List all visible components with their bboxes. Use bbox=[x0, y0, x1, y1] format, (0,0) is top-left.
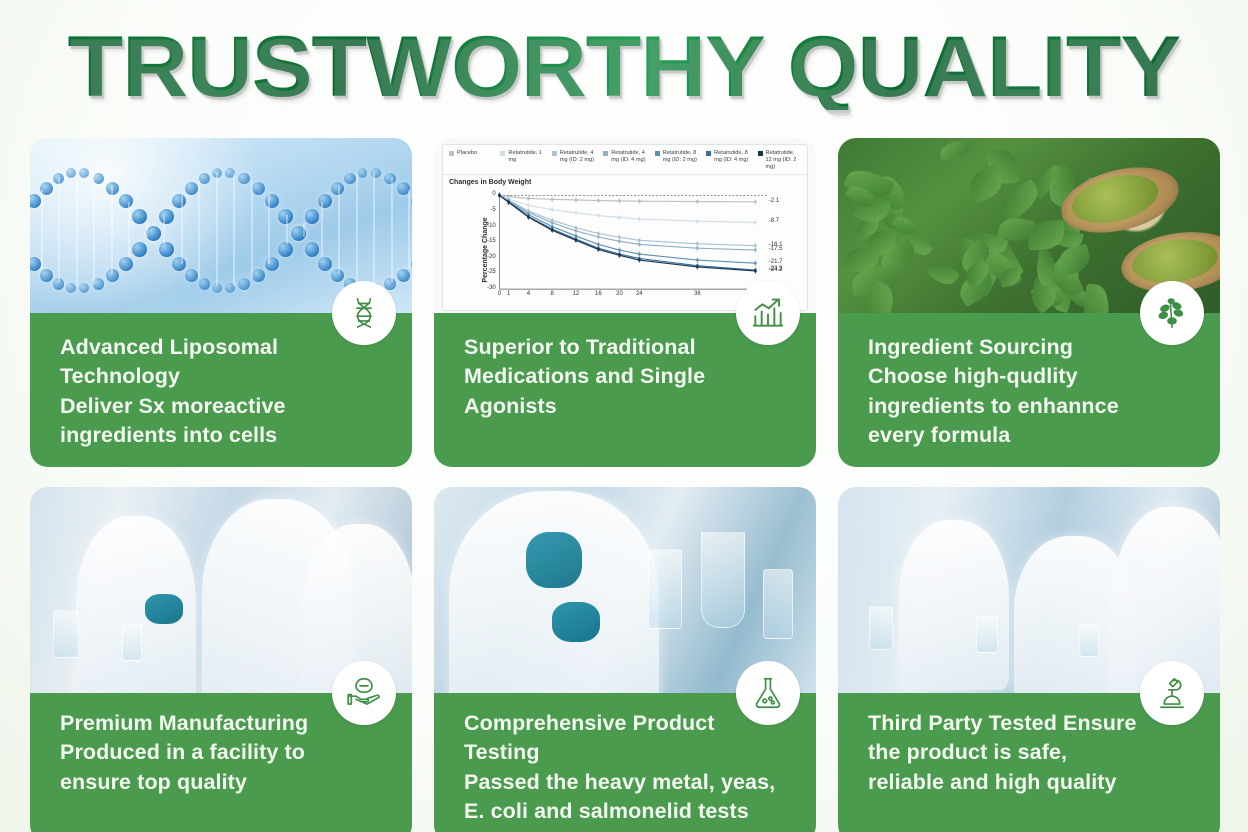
chart-y-tick: -25 bbox=[482, 269, 496, 275]
chart-legend-item: Placebo bbox=[449, 150, 492, 171]
legend-swatch bbox=[552, 151, 557, 156]
growth-chart-icon bbox=[736, 281, 800, 345]
chart-y-tick: -5 bbox=[482, 207, 496, 213]
chart-y-tick: 0 bbox=[482, 191, 496, 197]
feature-card-grid: Advanced Liposomal Technology Deliver Sx… bbox=[30, 138, 1220, 804]
chart-x-tick: 36 bbox=[691, 291, 703, 297]
legend-swatch bbox=[603, 151, 608, 156]
feature-card-premium-manufacturing[interactable]: Premium Manufacturing Produced in a faci… bbox=[30, 487, 412, 832]
feature-card-advanced-liposomal-technology[interactable]: Advanced Liposomal Technology Deliver Sx… bbox=[30, 138, 412, 467]
chart-y-tick: -15 bbox=[482, 238, 496, 244]
legend-swatch bbox=[758, 151, 763, 156]
feature-card-superior-to-traditional-medications[interactable]: PlaceboRetatrutide, 1 mgRetatrutide, 4 m… bbox=[434, 138, 816, 467]
page-title: TRUSTWORTHY QUALITY bbox=[68, 24, 1181, 110]
card-body: Premium Manufacturing Produced in a faci… bbox=[30, 693, 412, 832]
card-body: Third Party Tested Ensure the product is… bbox=[838, 693, 1220, 832]
chart-x-tick: 4 bbox=[522, 291, 534, 297]
chart-legend-item: Retatrutide, 8 mg (ID: 4 mg) bbox=[706, 150, 749, 171]
chart-title: Changes in Body Weight bbox=[443, 175, 807, 186]
chart-x-tick: 24 bbox=[633, 291, 645, 297]
chart-legend: PlaceboRetatrutide, 1 mgRetatrutide, 4 m… bbox=[443, 145, 807, 175]
microscope-icon bbox=[1140, 661, 1204, 725]
chart-x-tick: 16 bbox=[592, 291, 604, 297]
dna-icon bbox=[332, 281, 396, 345]
card-text: Comprehensive Product Testing Passed the… bbox=[464, 709, 794, 827]
card-body: Advanced Liposomal Technology Deliver Sx… bbox=[30, 313, 412, 467]
card-text: Premium Manufacturing Produced in a faci… bbox=[60, 709, 390, 797]
card-text: Advanced Liposomal Technology Deliver Sx… bbox=[60, 333, 390, 451]
chart-y-tick: -10 bbox=[482, 223, 496, 229]
chart-legend-item: Retatrutide, 12 mg (ID: 2 mg) bbox=[758, 150, 801, 171]
legend-swatch bbox=[500, 151, 505, 156]
card-text: Third Party Tested Ensure the product is… bbox=[868, 709, 1198, 797]
card-text: Superior to Traditional Medications and … bbox=[464, 333, 794, 421]
chart-endpoint-label: -21.7 bbox=[769, 259, 783, 265]
chart-x-tick: 12 bbox=[570, 291, 582, 297]
chart-endpoint-label: -24.2 bbox=[769, 267, 783, 273]
chart-x-tick: 1 bbox=[503, 291, 515, 297]
card-body: Ingredient Sourcing Choose high-qudlity … bbox=[838, 313, 1220, 467]
legend-label: Retatrutide, 8 mg (ID: 4 mg) bbox=[714, 150, 749, 164]
legend-label: Retatrutide, 12 mg (ID: 2 mg) bbox=[766, 150, 801, 171]
feature-card-ingredient-sourcing[interactable]: Ingredient Sourcing Choose high-qudlity … bbox=[838, 138, 1220, 467]
legend-swatch bbox=[655, 151, 660, 156]
chart-legend-item: Retatrutide, 4 mg (ID: 4 mg) bbox=[603, 150, 646, 171]
card-body: Comprehensive Product Testing Passed the… bbox=[434, 693, 816, 832]
feature-card-third-party-tested[interactable]: Third Party Tested Ensure the product is… bbox=[838, 487, 1220, 832]
chart-legend-item: Retatrutide, 4 mg (ID: 2 mg) bbox=[552, 150, 595, 171]
feature-card-comprehensive-product-testing[interactable]: Comprehensive Product Testing Passed the… bbox=[434, 487, 816, 832]
card-body: Superior to Traditional Medications and … bbox=[434, 313, 816, 467]
chart-y-tick: -20 bbox=[482, 254, 496, 260]
legend-label: Placebo bbox=[457, 150, 477, 157]
legend-swatch bbox=[706, 151, 711, 156]
legend-label: Retatrutide, 4 mg (ID: 4 mg) bbox=[611, 150, 646, 164]
chart-x-tick: 20 bbox=[613, 291, 625, 297]
flask-icon bbox=[736, 661, 800, 725]
chart-y-tick: -30 bbox=[482, 285, 496, 291]
chart-endpoint-label: -2.1 bbox=[769, 198, 779, 204]
chart-x-tick: 8 bbox=[546, 291, 558, 297]
legend-label: Retatrutide, 4 mg (ID: 2 mg) bbox=[560, 150, 595, 164]
chart-endpoint-label: -8.7 bbox=[769, 218, 779, 224]
chart-endpoint-label: -17.5 bbox=[769, 246, 783, 252]
leaf-icon bbox=[1140, 281, 1204, 345]
chart-legend-item: Retatrutide, 8 mg (ID: 2 mg) bbox=[655, 150, 698, 171]
hand-leaf-icon bbox=[332, 661, 396, 725]
page-header: TRUSTWORTHY QUALITY bbox=[0, 0, 1248, 128]
legend-label: Retatrutide, 8 mg (ID: 2 mg) bbox=[663, 150, 698, 164]
chart-legend-item: Retatrutide, 1 mg bbox=[500, 150, 543, 171]
card-text: Ingredient Sourcing Choose high-qudlity … bbox=[868, 333, 1198, 451]
legend-swatch bbox=[449, 151, 454, 156]
legend-label: Retatrutide, 1 mg bbox=[508, 150, 543, 164]
